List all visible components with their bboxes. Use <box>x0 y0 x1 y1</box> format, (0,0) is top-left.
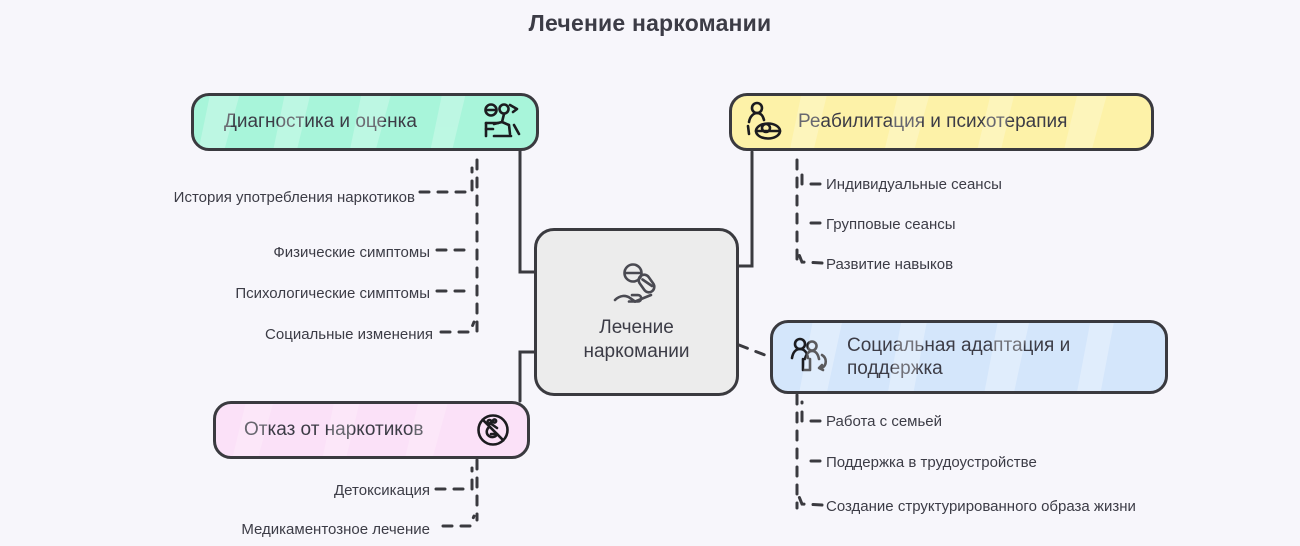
page-title: Лечение наркомании <box>0 10 1300 37</box>
person-examination-icon <box>480 101 524 143</box>
branch-node-diagnostics[interactable]: Диагностика и оценка <box>191 93 539 151</box>
no-drugs-icon <box>473 410 513 450</box>
hand-holding-pills-icon <box>605 260 669 310</box>
leaf-diagnostics-0: История употребления наркотиков <box>90 188 415 208</box>
center-node[interactable]: Лечение наркомании <box>534 228 739 396</box>
center-node-label: Лечение наркомании <box>583 316 689 364</box>
branch-node-diagnostics-label: Диагностика и оценка <box>224 110 417 133</box>
leaf-refusal-0: Детоксикация <box>130 481 430 501</box>
leaf-rehab-2: Развитие навыков <box>826 255 953 275</box>
mindmap-canvas: Лечение наркомании <box>0 0 1300 546</box>
leaf-social-1: Поддержка в трудоустройстве <box>826 453 1037 473</box>
leaf-refusal-1: Медикаментозное лечение <box>110 520 430 540</box>
leaf-rehab-1: Групповые сеансы <box>826 215 956 235</box>
branch-node-refusal[interactable]: Отказ от наркотиков <box>213 401 530 459</box>
branch-node-refusal-label: Отказ от наркотиков <box>244 418 424 441</box>
leaf-diagnostics-3: Социальные изменения <box>130 325 433 345</box>
leaf-diagnostics-2: Психологические симптомы <box>130 284 430 304</box>
people-support-icon <box>789 335 833 379</box>
leaf-rehab-0: Индивидуальные сеансы <box>826 175 1002 195</box>
branch-node-rehab[interactable]: Реабилитация и психотерапия <box>729 93 1154 151</box>
leaf-diagnostics-1: Физические симптомы <box>130 243 430 263</box>
leaf-social-2: Создание структурированного образа жизни <box>826 497 1136 517</box>
branch-node-social-label: Социальная адаптация и поддержка <box>847 334 1070 380</box>
leaf-social-0: Работа с семьей <box>826 412 942 432</box>
therapy-session-icon <box>744 100 786 144</box>
branch-node-social[interactable]: Социальная адаптация и поддержка <box>770 320 1168 394</box>
branch-node-rehab-label: Реабилитация и психотерапия <box>798 110 1067 133</box>
